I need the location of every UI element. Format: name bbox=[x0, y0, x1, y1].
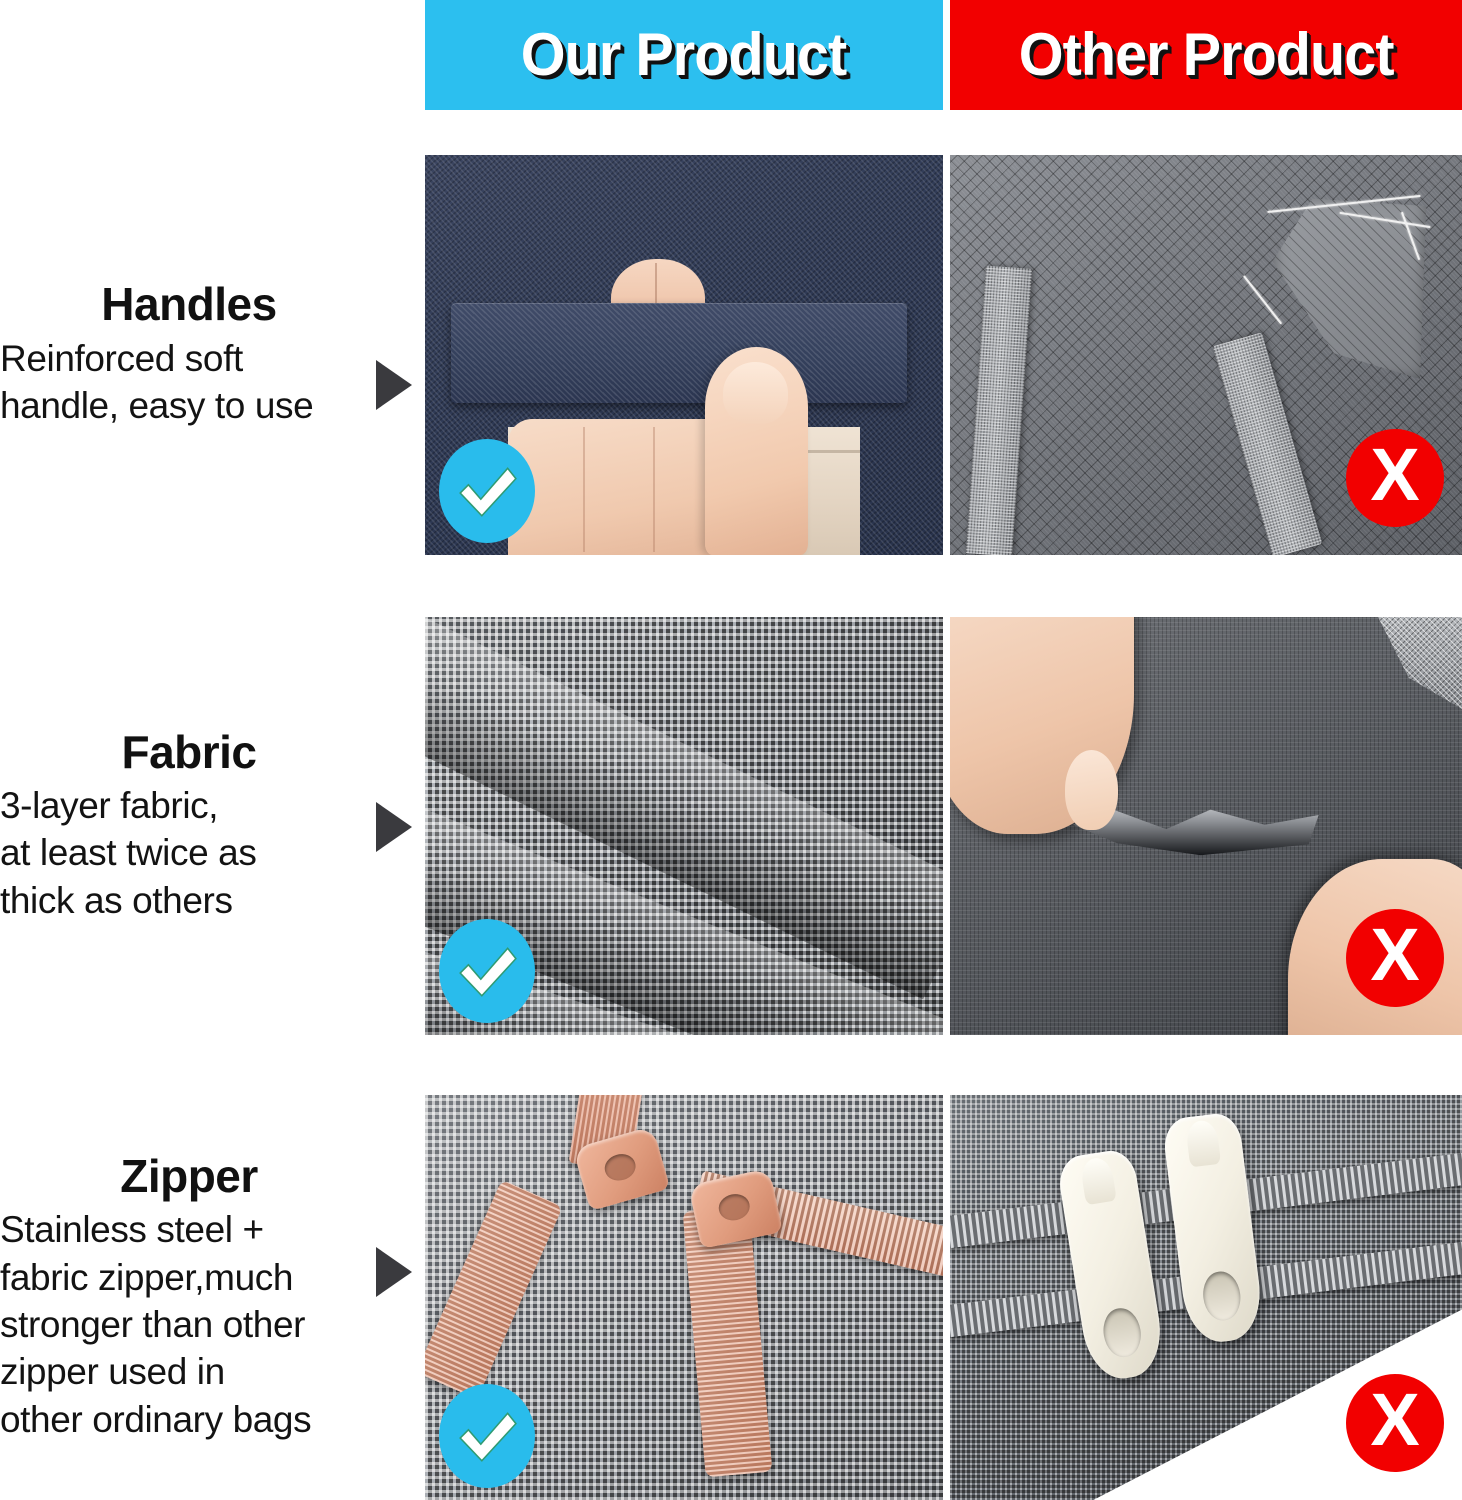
row-description-handles: Reinforced soft handle, easy to use bbox=[0, 335, 378, 430]
check-mark-icon bbox=[454, 458, 520, 524]
row-description-fabric: 3-layer fabric, at least twice as thick … bbox=[0, 782, 378, 924]
x-badge: X bbox=[1346, 1374, 1444, 1472]
x-badge: X bbox=[1346, 909, 1444, 1007]
check-badge bbox=[439, 1384, 535, 1488]
check-badge bbox=[439, 439, 535, 543]
check-badge bbox=[439, 919, 535, 1023]
row-title-zipper: Zipper bbox=[0, 1152, 378, 1200]
zipper-fabric-tab bbox=[683, 1206, 773, 1478]
x-mark-icon: X bbox=[1370, 1383, 1419, 1457]
check-mark-icon bbox=[454, 1403, 520, 1469]
arrow-right-icon bbox=[376, 1247, 412, 1297]
photo-other-zipper: X bbox=[950, 1095, 1462, 1500]
comparison-infographic: Our Product Other Product Handles Reinfo… bbox=[0, 0, 1462, 1500]
hand-thumb bbox=[705, 347, 809, 555]
row-label-handles: Handles Reinforced soft handle, easy to … bbox=[0, 155, 420, 555]
x-mark-icon: X bbox=[1370, 438, 1419, 512]
arrow-right-icon bbox=[376, 360, 412, 410]
loose-thread bbox=[1243, 275, 1282, 325]
row-description-zipper: Stainless steel + fabric zipper,much str… bbox=[0, 1206, 378, 1443]
x-badge: X bbox=[1346, 429, 1444, 527]
photo-our-fabric bbox=[425, 617, 943, 1035]
webbing-strap-right bbox=[1212, 332, 1322, 555]
row-label-zipper: Zipper Stainless steel + fabric zipper,m… bbox=[0, 1095, 420, 1500]
x-mark-icon: X bbox=[1370, 918, 1419, 992]
header-our-product: Our Product bbox=[425, 0, 943, 110]
photo-other-fabric: X bbox=[950, 617, 1462, 1035]
reinforced-handle-strap bbox=[451, 303, 907, 403]
header-other-product-label: Other Product bbox=[1019, 25, 1394, 85]
row-title-handles: Handles bbox=[0, 280, 378, 328]
zipper-fabric-tab bbox=[425, 1180, 563, 1400]
photo-our-zipper bbox=[425, 1095, 943, 1500]
check-mark-icon bbox=[454, 938, 520, 1004]
header-our-product-label: Our Product bbox=[521, 25, 846, 85]
mesh-fabric-corner bbox=[1360, 617, 1462, 709]
row-label-fabric: Fabric 3-layer fabric, at least twice as… bbox=[0, 617, 420, 1035]
hand-upper-left bbox=[950, 617, 1134, 834]
white-zipper-pull bbox=[1056, 1147, 1167, 1383]
photo-our-handles bbox=[425, 155, 943, 555]
header-other-product: Other Product bbox=[950, 0, 1462, 110]
photo-other-handles: X bbox=[950, 155, 1462, 555]
arrow-right-icon bbox=[376, 802, 412, 852]
row-title-fabric: Fabric bbox=[0, 728, 378, 776]
webbing-strap-left bbox=[966, 266, 1032, 555]
white-zipper-pull bbox=[1162, 1111, 1266, 1345]
